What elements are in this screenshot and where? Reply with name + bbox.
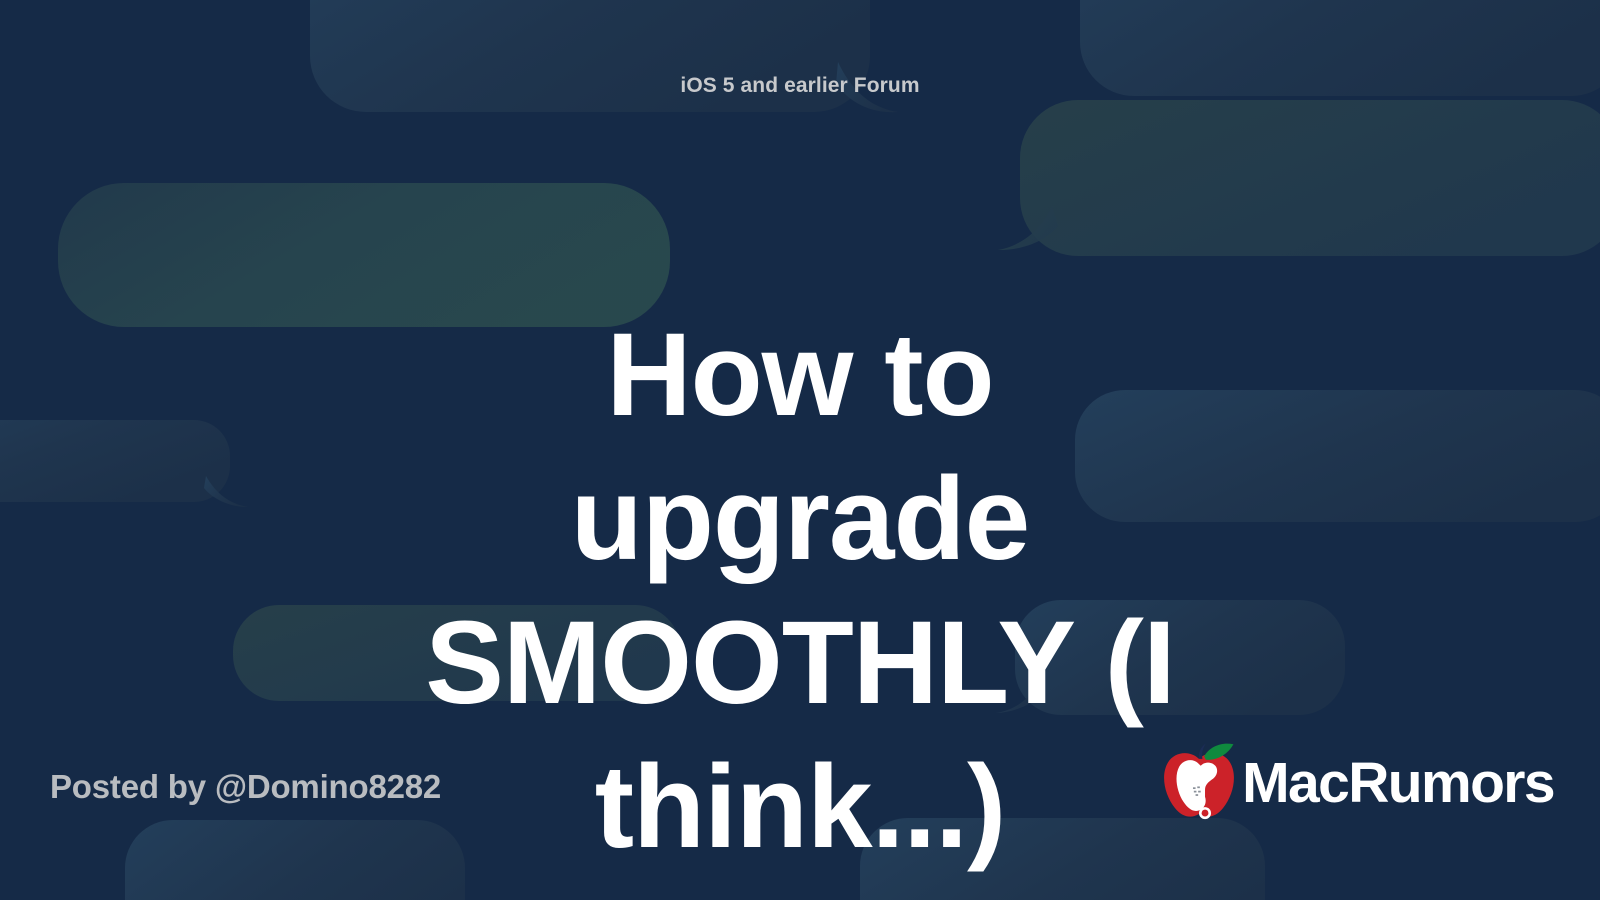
macrumors-wordmark: MacRumors xyxy=(1242,755,1554,812)
social-share-card: iOS 5 and earlier Forum How to upgrade S… xyxy=(0,0,1600,900)
macrumors-logo: MacRumors xyxy=(1156,740,1554,826)
forum-label: iOS 5 and earlier Forum xyxy=(0,74,1600,98)
thread-title: How to upgrade SMOOTHLY (I think...) xyxy=(365,304,1235,880)
macrumors-apple-icon xyxy=(1156,740,1242,826)
posted-by-label: Posted by @Domino8282 xyxy=(50,768,441,806)
